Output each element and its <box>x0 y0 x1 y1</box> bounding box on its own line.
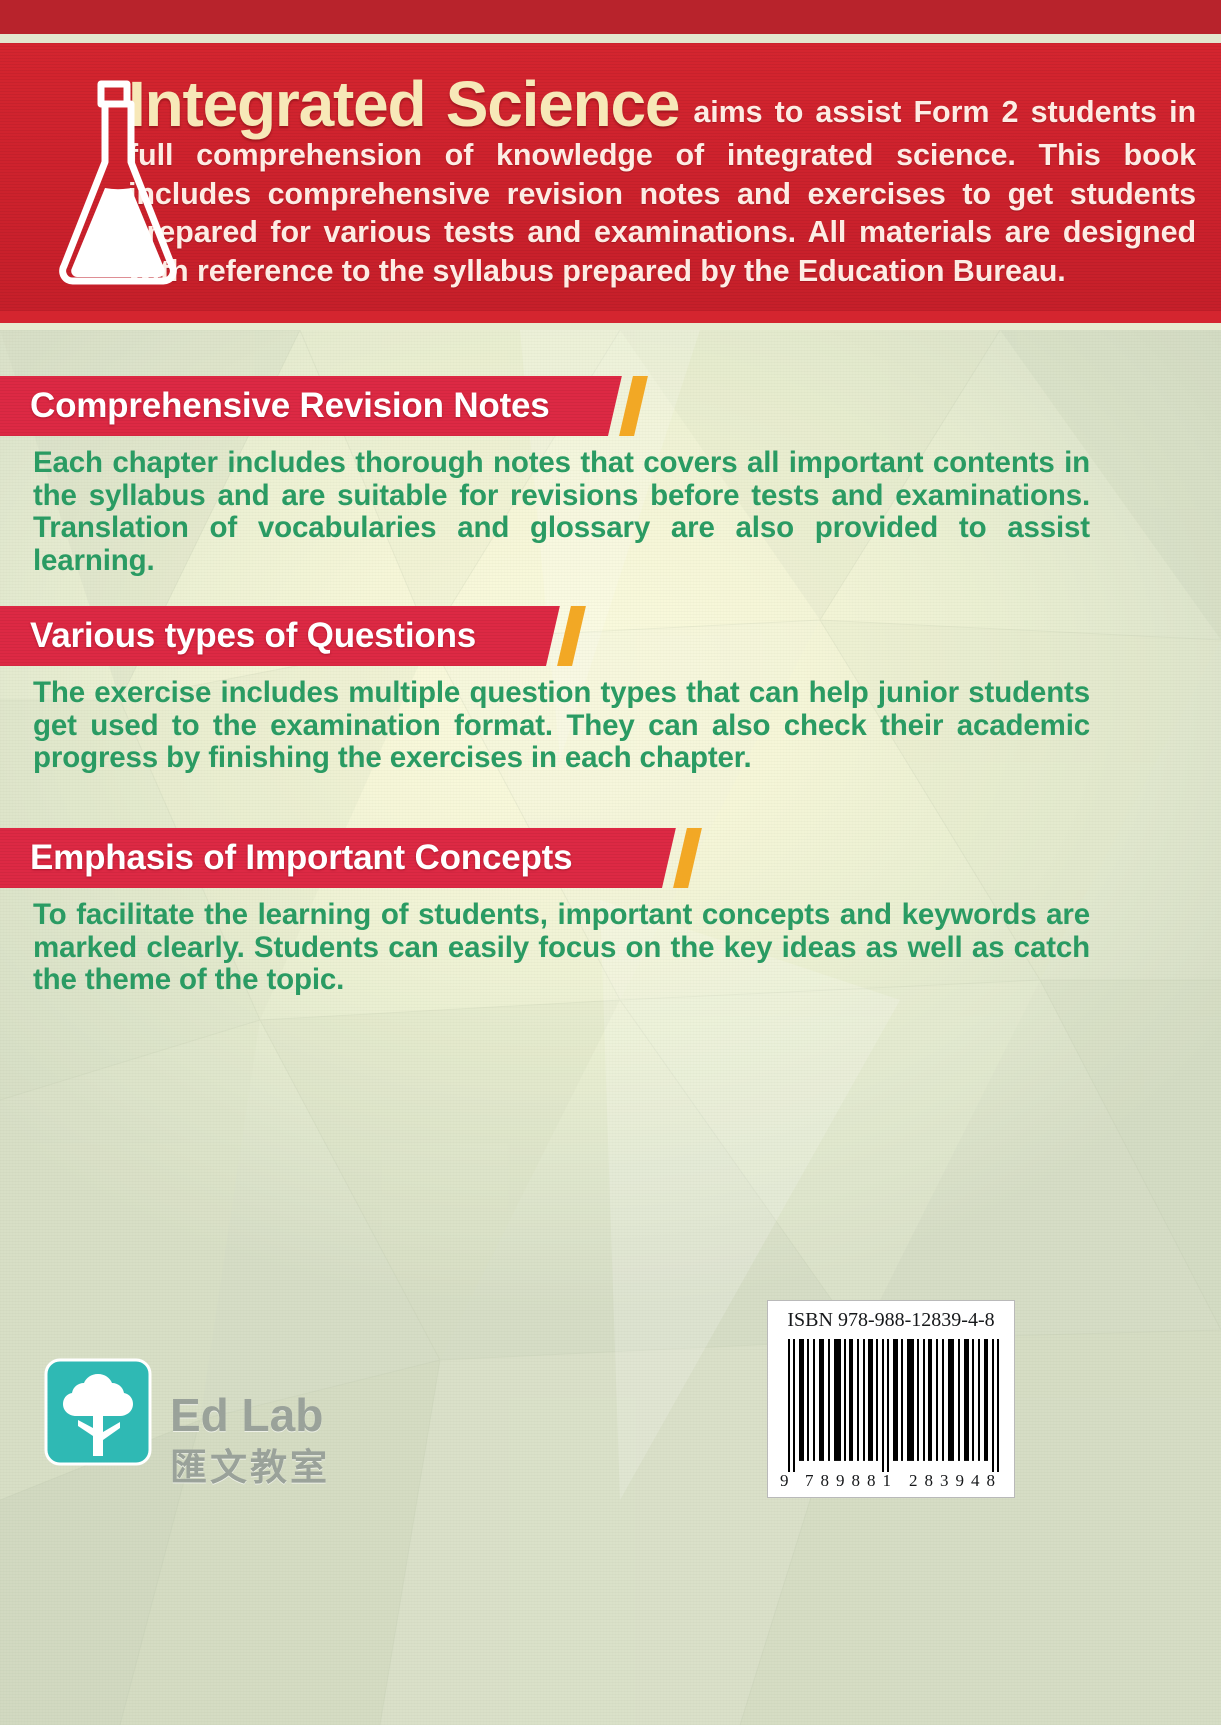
publisher-name-cn: 匯文教室 <box>170 1449 380 1486</box>
barcode-digits: 9 789881 283948 <box>778 1471 1004 1491</box>
book-title: Integrated Science <box>128 68 693 140</box>
top-red-edge <box>0 0 1221 34</box>
section-heading: Emphasis of Important Concepts <box>30 828 572 888</box>
book-back-cover: Integrated Scienceaims to assist Form 2 … <box>0 0 1221 1725</box>
header-bottom-red-bar <box>0 311 1221 323</box>
section-banner: Comprehensive Revision Notes <box>0 376 1221 436</box>
barcode-digit-group-2: 283948 <box>909 1471 1002 1491</box>
header-bottom-separator <box>0 323 1221 330</box>
isbn-barcode-block: ISBN 978-988-12839-4-8 <box>767 1300 1015 1498</box>
section-various-types-of-questions: Various types of Questions The exercise … <box>0 606 1221 666</box>
top-edge-separator <box>0 34 1221 43</box>
header-description: Integrated Scienceaims to assist Form 2 … <box>128 72 1196 291</box>
section-emphasis-of-important-concepts: Emphasis of Important Concepts To facili… <box>0 828 1221 888</box>
section-body-text: To facilitate the learning of students, … <box>33 899 1090 997</box>
section-body-text: Each chapter includes thorough notes tha… <box>33 447 1090 578</box>
barcode-digit-prefix: 9 <box>780 1471 794 1491</box>
section-body-text: The exercise includes multiple question … <box>33 677 1090 775</box>
section-banner: Emphasis of Important Concepts <box>0 828 1221 888</box>
barcode-bars <box>778 1339 1004 1472</box>
conical-flask-icon <box>52 76 184 294</box>
section-heading: Comprehensive Revision Notes <box>30 376 550 436</box>
isbn-label: ISBN 978-988-12839-4-8 <box>778 1308 1004 1333</box>
publisher-logo: Ed Lab 匯文教室 <box>44 1358 374 1518</box>
section-banner: Various types of Questions <box>0 606 1221 666</box>
section-heading: Various types of Questions <box>30 606 476 666</box>
banner-orange-accent <box>619 376 648 436</box>
barcode-digit-group-1: 789881 <box>805 1471 898 1491</box>
banner-orange-accent <box>557 606 586 666</box>
banner-orange-accent <box>673 828 702 888</box>
publisher-name-en: Ed Lab <box>170 1392 380 1438</box>
publisher-name-block: Ed Lab 匯文教室 <box>170 1392 380 1486</box>
section-comprehensive-revision-notes: Comprehensive Revision Notes Each chapte… <box>0 376 1221 436</box>
tree-in-square-icon <box>44 1358 152 1466</box>
